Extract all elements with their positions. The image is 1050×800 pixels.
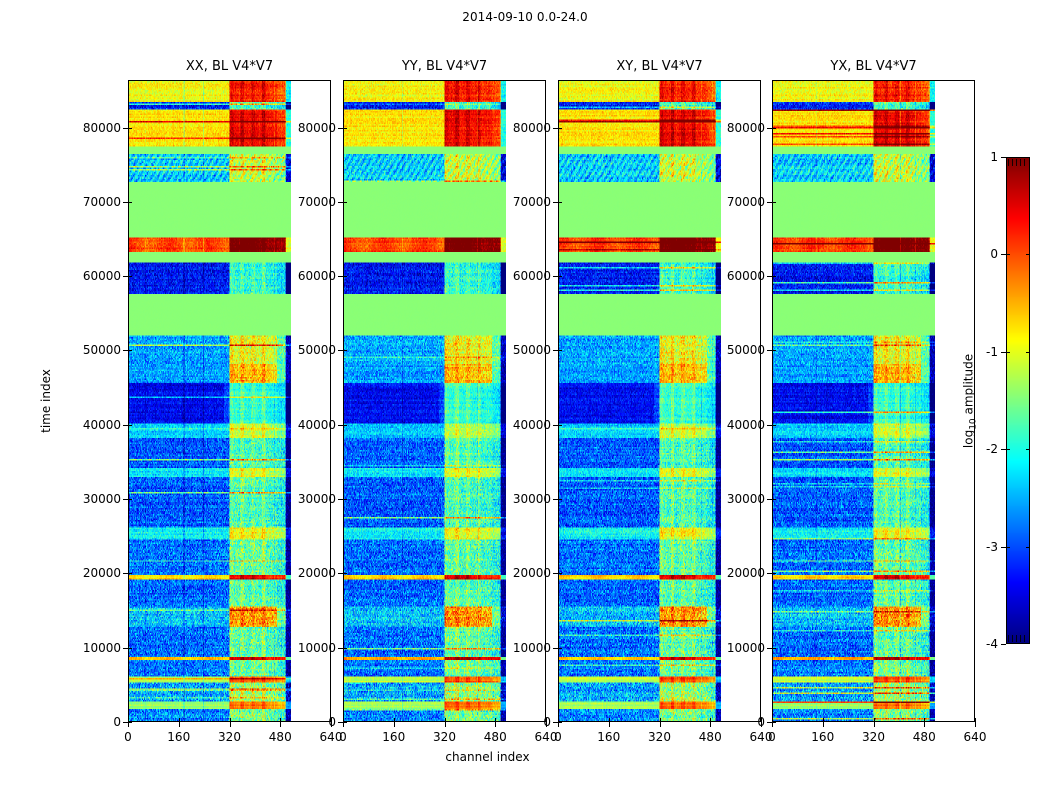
y-tick-inner (558, 499, 562, 500)
x-ticklabel: 320 (218, 730, 241, 744)
x-tick-inner (230, 718, 231, 722)
axes-frame-xy (558, 80, 761, 722)
y-ticklabel: 80000 (298, 121, 336, 135)
y-tick-inner (558, 128, 562, 129)
y-ticklabel: 30000 (298, 492, 336, 506)
y-tick-inner (343, 573, 347, 574)
x-ticklabel: 640 (964, 730, 987, 744)
x-tick (772, 722, 773, 727)
axes-frame-yx (772, 80, 975, 722)
y-ticklabel: 0 (757, 715, 765, 729)
colorbar-ticklabel: -3 (986, 540, 998, 554)
x-tick-inner (128, 718, 129, 722)
colorbar-tick-inner-right (1026, 254, 1030, 255)
colorbar-ticklabel: -4 (986, 637, 998, 651)
x-tick (128, 722, 129, 727)
y-ticklabel: 20000 (513, 566, 551, 580)
x-tick-inner (394, 718, 395, 722)
y-tick-inner (343, 425, 347, 426)
y-ticklabel: 50000 (727, 343, 765, 357)
x-ticklabel: 320 (862, 730, 885, 744)
colorbar-tick-inner-left (1006, 352, 1010, 353)
y-tick-inner (128, 648, 132, 649)
colorbar-label-prefix: log (961, 429, 975, 447)
colorbar-tick (1001, 157, 1006, 158)
y-tick-inner (558, 425, 562, 426)
y-tick-inner (343, 350, 347, 351)
y-tick-inner (558, 202, 562, 203)
panel-title-yy: YY, BL V4*V7 (343, 59, 546, 74)
x-tick-inner (874, 718, 875, 722)
y-tick-inner (558, 573, 562, 574)
panel-title-yx: YX, BL V4*V7 (772, 59, 975, 74)
x-ticklabel: 160 (811, 730, 834, 744)
y-ticklabel: 20000 (298, 566, 336, 580)
y-tick-inner (772, 276, 776, 277)
y-ticklabel: 10000 (727, 641, 765, 655)
colorbar-label-subscript: 10 (969, 418, 979, 429)
y-tick-inner (772, 499, 776, 500)
x-ticklabel: 480 (699, 730, 722, 744)
x-tick-inner (280, 718, 281, 722)
x-ticklabel: 160 (382, 730, 405, 744)
y-ticklabel: 80000 (727, 121, 765, 135)
y-ticklabel: 60000 (83, 269, 121, 283)
x-ticklabel: 160 (167, 730, 190, 744)
colorbar-ticklabel: 1 (990, 150, 998, 164)
x-tick-inner (343, 718, 344, 722)
y-ticklabel: 70000 (298, 195, 336, 209)
y-ticklabel: 10000 (513, 641, 551, 655)
waterfall-image-xx (129, 81, 291, 721)
y-tick-inner (128, 350, 132, 351)
y-tick-inner (558, 350, 562, 351)
x-tick (823, 722, 824, 727)
x-tick (179, 722, 180, 727)
y-ticklabel: 50000 (83, 343, 121, 357)
colorbar-label: log10 amplitude (961, 353, 978, 447)
x-axis-label: channel index (0, 750, 975, 764)
y-ticklabel: 70000 (513, 195, 551, 209)
figure-canvas: 2014-09-10 0.0-24.0 XX, BL V4*V701000020… (0, 0, 1050, 800)
colorbar-ticklabel: -2 (986, 442, 998, 456)
y-ticklabel: 40000 (727, 418, 765, 432)
y-ticklabel: 80000 (83, 121, 121, 135)
y-ticklabel: 40000 (513, 418, 551, 432)
y-ticklabel: 40000 (298, 418, 336, 432)
y-tick-inner (128, 276, 132, 277)
y-tick-inner (772, 425, 776, 426)
y-axis-label: time index (39, 369, 53, 433)
colorbar-tick-inner-right (1026, 449, 1030, 450)
y-tick-inner (343, 276, 347, 277)
panel-title-xx: XX, BL V4*V7 (128, 59, 331, 74)
x-tick-inner (660, 718, 661, 722)
panel-yy[interactable]: YY, BL V4*V70100002000030000400005000060… (343, 80, 546, 722)
y-ticklabel: 30000 (727, 492, 765, 506)
x-tick-inner (710, 718, 711, 722)
y-tick-inner (772, 573, 776, 574)
y-ticklabel: 20000 (727, 566, 765, 580)
y-ticklabel: 60000 (513, 269, 551, 283)
y-tick-inner (128, 128, 132, 129)
y-ticklabel: 0 (543, 715, 551, 729)
y-ticklabel: 30000 (83, 492, 121, 506)
x-ticklabel: 480 (484, 730, 507, 744)
y-tick-inner (343, 128, 347, 129)
y-tick-inner (772, 350, 776, 351)
x-tick (924, 722, 925, 727)
colorbar-tick (1001, 644, 1006, 645)
figure-suptitle: 2014-09-10 0.0-24.0 (0, 10, 1050, 24)
colorbar-tick-inner-right (1026, 547, 1030, 548)
y-tick-inner (128, 202, 132, 203)
x-tick-inner (495, 718, 496, 722)
waterfall-image-yy (344, 81, 506, 721)
y-ticklabel: 0 (328, 715, 336, 729)
x-tick (495, 722, 496, 727)
x-ticklabel: 0 (768, 730, 776, 744)
axes-frame-yy (343, 80, 546, 722)
y-tick-inner (128, 425, 132, 426)
x-ticklabel: 480 (913, 730, 936, 744)
y-tick-inner (128, 499, 132, 500)
y-tick-inner (343, 202, 347, 203)
colorbar-tick-inner-left (1006, 254, 1010, 255)
y-tick-inner (558, 648, 562, 649)
y-ticklabel: 10000 (83, 641, 121, 655)
x-tick (975, 722, 976, 727)
x-ticklabel: 480 (269, 730, 292, 744)
colorbar-ticklabel: -1 (986, 345, 998, 359)
x-tick-inner (823, 718, 824, 722)
y-ticklabel: 60000 (727, 269, 765, 283)
y-ticklabel: 60000 (298, 269, 336, 283)
x-tick (230, 722, 231, 727)
y-tick-inner (343, 648, 347, 649)
y-ticklabel: 30000 (513, 492, 551, 506)
colorbar-tick-inner-left (1006, 449, 1010, 450)
x-tick (609, 722, 610, 727)
y-tick-inner (772, 128, 776, 129)
x-tick (280, 722, 281, 727)
y-ticklabel: 0 (113, 715, 121, 729)
x-tick (445, 722, 446, 727)
x-tick (874, 722, 875, 727)
x-tick-inner (445, 718, 446, 722)
x-ticklabel: 0 (339, 730, 347, 744)
colorbar-tick-inner-right (1026, 352, 1030, 353)
y-ticklabel: 80000 (513, 121, 551, 135)
axes-frame-xx (128, 80, 331, 722)
y-ticklabel: 50000 (513, 343, 551, 357)
panel-xy[interactable]: XY, BL V4*V70100002000030000400005000060… (558, 80, 761, 722)
x-tick-inner (924, 718, 925, 722)
x-tick-inner (772, 718, 773, 722)
colorbar-label-suffix: amplitude (961, 353, 975, 417)
y-tick-inner (772, 648, 776, 649)
x-ticklabel: 0 (554, 730, 562, 744)
colorbar-extend-hatch-bottom (1008, 635, 1026, 642)
colorbar-ticklabel: 0 (990, 247, 998, 261)
colorbar-extend-hatch-top (1008, 159, 1026, 166)
x-tick-inner (609, 718, 610, 722)
x-tick-inner (975, 718, 976, 722)
panel-yx[interactable]: YX, BL V4*V70100002000030000400005000060… (772, 80, 975, 722)
x-ticklabel: 320 (433, 730, 456, 744)
x-tick (558, 722, 559, 727)
y-ticklabel: 70000 (83, 195, 121, 209)
x-ticklabel: 320 (648, 730, 671, 744)
y-ticklabel: 70000 (727, 195, 765, 209)
y-tick-inner (772, 202, 776, 203)
x-tick-inner (558, 718, 559, 722)
x-tick-inner (179, 718, 180, 722)
waterfall-image-xy (559, 81, 721, 721)
y-tick-inner (558, 276, 562, 277)
y-tick-inner (128, 573, 132, 574)
colorbar-tick-inner-left (1006, 547, 1010, 548)
panel-xx[interactable]: XX, BL V4*V70100002000030000400005000060… (128, 80, 331, 722)
x-tick (710, 722, 711, 727)
y-tick-inner (343, 499, 347, 500)
x-tick (660, 722, 661, 727)
x-ticklabel: 160 (597, 730, 620, 744)
x-ticklabel: 0 (124, 730, 132, 744)
x-tick (394, 722, 395, 727)
y-ticklabel: 10000 (298, 641, 336, 655)
waterfall-image-yx (773, 81, 935, 721)
y-ticklabel: 20000 (83, 566, 121, 580)
x-tick (343, 722, 344, 727)
y-ticklabel: 50000 (298, 343, 336, 357)
y-ticklabel: 40000 (83, 418, 121, 432)
panel-title-xy: XY, BL V4*V7 (558, 59, 761, 74)
colorbar-ticks: -4-3-2-101 (1006, 157, 1030, 644)
